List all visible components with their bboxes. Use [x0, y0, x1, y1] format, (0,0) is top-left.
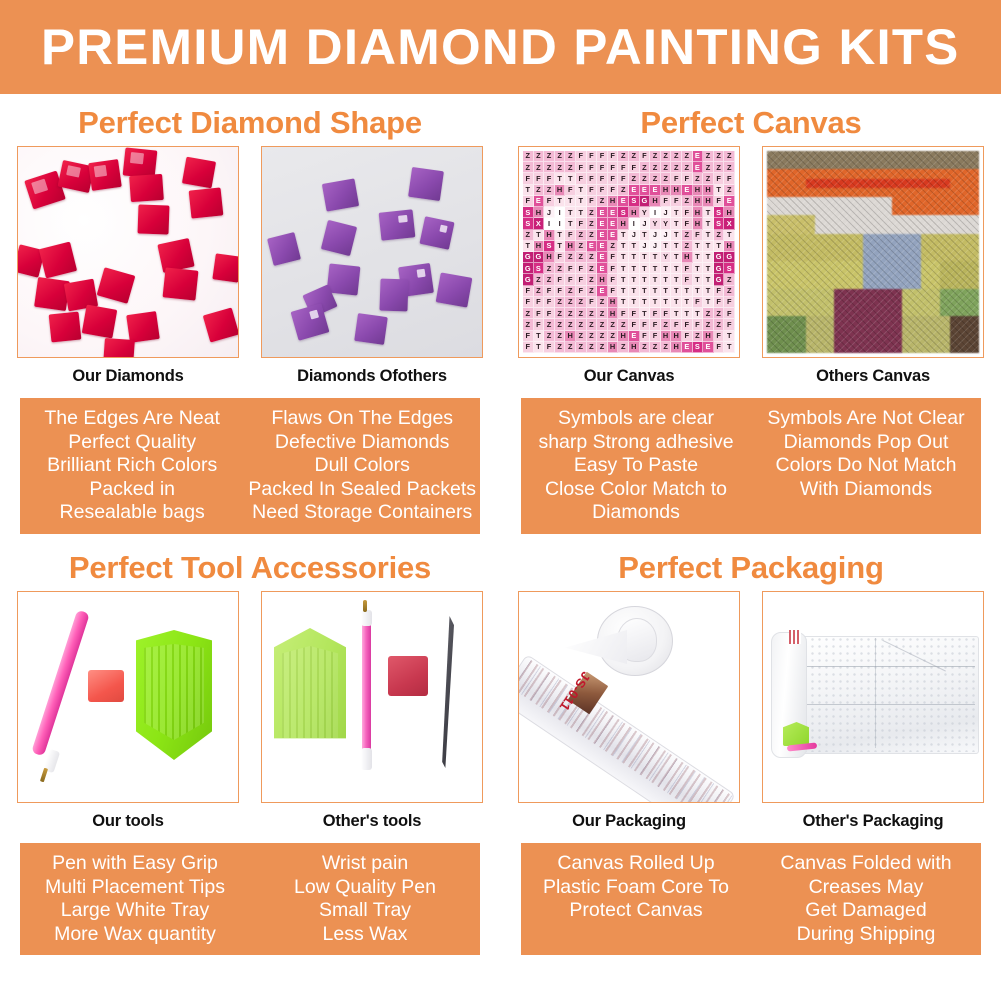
wax-square-icon — [88, 670, 124, 702]
blurry-canvas-cell — [854, 224, 864, 233]
canvas-symbol-cell: Z — [714, 162, 725, 173]
canvas-symbol-cell: Z — [565, 252, 576, 263]
canvas-symbol-cell: E — [608, 207, 619, 218]
blurry-canvas-cell — [883, 325, 893, 334]
section-title-tools: Perfect Tool Accessories — [0, 545, 500, 591]
canvas-symbol-cell: Z — [703, 151, 714, 162]
canvas-symbol-cell: T — [555, 173, 566, 184]
blurry-canvas-cell — [863, 169, 873, 178]
canvas-symbol-cell: F — [555, 252, 566, 263]
canvas-symbol-cell: F — [629, 308, 640, 319]
canvas-symbol-cell: T — [693, 241, 704, 252]
blurry-canvas-cell — [921, 234, 931, 243]
blurry-canvas-cell — [834, 270, 844, 279]
blurb-line: Packed In Sealed Packets — [248, 478, 476, 502]
blurry-canvas-cell — [854, 270, 864, 279]
blurry-canvas-cell — [825, 252, 835, 261]
blurry-canvas-cell — [815, 224, 825, 233]
blurry-canvas-cell — [796, 243, 806, 252]
blurry-canvas-cell — [960, 197, 970, 206]
blurry-canvas-cell — [931, 316, 941, 325]
blurry-canvas-cell — [815, 325, 825, 334]
blurry-canvas-cell — [902, 298, 912, 307]
blurry-canvas-cell — [960, 160, 970, 169]
canvas-symbol-cell: Z — [544, 185, 555, 196]
blurry-canvas-cell — [863, 206, 873, 215]
bubble-wrap-texture — [781, 636, 977, 752]
photo-pair-canvas: ZZZZZFFFFZZFZZZZEZZZZZZZZFFFFFFZZZZZEZZZ… — [501, 146, 1001, 393]
canvas-symbol-cell: G — [523, 274, 534, 285]
blurry-canvas-cell — [806, 289, 816, 298]
blurry-canvas-cell — [863, 215, 873, 224]
canvas-symbol-cell: T — [523, 185, 534, 196]
blurry-canvas-cell — [777, 197, 787, 206]
blurry-canvas-cell — [950, 316, 960, 325]
photo-others-canvas — [762, 146, 984, 358]
blurry-canvas-cell — [960, 234, 970, 243]
blurry-canvas-cell — [950, 335, 960, 344]
blurry-canvas-cell — [834, 280, 844, 289]
canvas-symbol-cell: T — [671, 252, 682, 263]
canvas-symbol-cell: T — [671, 263, 682, 274]
canvas-symbol-cell: T — [640, 230, 651, 241]
blurry-canvas-cell — [796, 179, 806, 188]
canvas-symbol-cell: H — [693, 185, 704, 196]
canvas-symbol-cell: T — [565, 207, 576, 218]
blurry-canvas-cell — [844, 307, 854, 316]
blurb-line: Less Wax — [254, 923, 476, 947]
blurry-canvas-cell — [950, 188, 960, 197]
blurry-canvas-cell — [921, 307, 931, 316]
canvas-symbol-cell: Z — [565, 162, 576, 173]
blurb-line: Brilliant Rich Colors — [24, 454, 240, 478]
blurry-canvas-cell — [969, 188, 979, 197]
blurry-canvas-cell — [863, 243, 873, 252]
blurry-canvas-cell — [767, 335, 777, 344]
canvas-symbol-cell: Z — [576, 319, 587, 330]
blurb-line: Flaws On The Edges — [248, 407, 476, 431]
photo-pair-packaging: JS-011 Our Packaging — [501, 591, 1001, 838]
blurry-canvas-cell — [854, 316, 864, 325]
blurry-canvas-cell — [902, 270, 912, 279]
blurry-canvas-cell — [767, 316, 777, 325]
canvas-symbol-cell: E — [608, 218, 619, 229]
blurb-line: Symbols Are Not Clear — [755, 407, 977, 431]
blurry-canvas-cell — [863, 270, 873, 279]
canvas-symbol-cell: T — [640, 252, 651, 263]
cell-others-diamonds: Diamonds Ofothers — [261, 146, 483, 393]
blurry-canvas-cell — [931, 344, 941, 353]
blurry-canvas-cell — [883, 179, 893, 188]
canvas-symbol-cell: Z — [587, 331, 598, 342]
blurry-canvas-cell — [931, 289, 941, 298]
canvas-symbol-cell: F — [523, 331, 534, 342]
canvas-symbol-cell: F — [587, 297, 598, 308]
blurry-canvas-cell — [960, 270, 970, 279]
blurry-canvas-cell — [960, 298, 970, 307]
canvas-symbol-cell: Y — [661, 252, 672, 263]
canvas-symbol-cell: T — [693, 252, 704, 263]
blurry-canvas-cell — [777, 215, 787, 224]
blurry-canvas-cell — [969, 252, 979, 261]
blurry-canvas-cell — [921, 316, 931, 325]
blurb-line: Diamonds Pop Out — [755, 431, 977, 455]
blurry-canvas-cell — [796, 270, 806, 279]
blurry-canvas-cell — [834, 160, 844, 169]
blurry-canvas-cell — [834, 307, 844, 316]
blurry-canvas-cell — [777, 206, 787, 215]
blurry-canvas-cell — [854, 344, 864, 353]
crease-line — [875, 638, 876, 748]
canvas-symbol-cell: G — [724, 252, 735, 263]
blurry-canvas-cell — [806, 197, 816, 206]
blurry-canvas-cell — [854, 298, 864, 307]
canvas-symbol-cell: Z — [724, 151, 735, 162]
blurry-canvas-cell — [921, 325, 931, 334]
canvas-symbol-cell: Z — [565, 286, 576, 297]
blurry-canvas-cell — [892, 316, 902, 325]
canvas-symbol-cell: S — [523, 207, 534, 218]
canvas-symbol-cell: F — [629, 319, 640, 330]
blurry-canvas-cell — [940, 151, 950, 160]
blurry-canvas-cell — [777, 316, 787, 325]
blurry-canvas-cell — [931, 307, 941, 316]
canvas-symbol-cell: F — [587, 185, 598, 196]
blurry-canvas-cell — [940, 252, 950, 261]
blurry-canvas-cell — [902, 179, 912, 188]
blurry-canvas-cell — [931, 280, 941, 289]
blurb-line: Easy To Paste — [525, 454, 747, 478]
others-tools-art — [262, 592, 482, 802]
canvas-symbol-cell: F — [671, 196, 682, 207]
blurry-canvas-cell — [777, 151, 787, 160]
blurry-canvas-cell — [873, 252, 883, 261]
canvas-symbol-cell: Z — [587, 286, 598, 297]
canvas-symbol-cell: Z — [618, 151, 629, 162]
canvas-symbol-cell: Z — [640, 173, 651, 184]
canvas-symbol-cell: F — [576, 162, 587, 173]
canvas-symbol-cell: Z — [565, 297, 576, 308]
tube-endcap-flap-icon — [565, 630, 627, 664]
blurry-canvas-cell — [960, 252, 970, 261]
blurry-canvas-cell — [844, 316, 854, 325]
photo-others-tools — [261, 591, 483, 803]
canvas-symbol-cell: Z — [565, 308, 576, 319]
blurry-canvas-cell — [815, 243, 825, 252]
blurry-canvas-cell — [767, 261, 777, 270]
canvas-symbol-cell: F — [682, 331, 693, 342]
blurry-canvas-cell — [854, 325, 864, 334]
blurry-canvas-cell — [960, 224, 970, 233]
blurry-canvas-cell — [825, 215, 835, 224]
canvas-symbol-cell: F — [650, 331, 661, 342]
blurry-canvas-cell — [873, 261, 883, 270]
blurry-canvas-cell — [844, 325, 854, 334]
canvas-symbol-cell: T — [661, 274, 672, 285]
blurry-canvas-cell — [777, 344, 787, 353]
blurry-canvas-cell — [969, 298, 979, 307]
canvas-symbol-cell: T — [576, 207, 587, 218]
blurry-canvas-cell — [844, 280, 854, 289]
blurry-canvas-cell — [912, 270, 922, 279]
blurry-canvas-cell — [786, 270, 796, 279]
canvas-symbol-cell: F — [714, 331, 725, 342]
blurry-canvas-cell — [873, 224, 883, 233]
blurry-canvas-cell — [969, 335, 979, 344]
blurry-canvas-cell — [854, 215, 864, 224]
canvas-symbol-cell: F — [640, 151, 651, 162]
blurry-canvas-cell — [796, 188, 806, 197]
canvas-symbol-cell: Z — [703, 162, 714, 173]
purple-diamonds-art — [262, 147, 482, 357]
canvas-symbol-cell: E — [597, 207, 608, 218]
blurry-canvas-cell — [883, 151, 893, 160]
canvas-symbol-cell: Z — [597, 308, 608, 319]
canvas-symbol-cell: E — [597, 252, 608, 263]
canvas-symbol-cell: E — [534, 196, 545, 207]
cell-our-tools: Our tools — [17, 591, 239, 838]
blurry-canvas-cell — [873, 160, 883, 169]
canvas-symbol-cell: J — [629, 230, 640, 241]
canvas-symbol-cell: Z — [544, 319, 555, 330]
blurry-canvas-cell — [931, 151, 941, 160]
canvas-symbol-cell: T — [714, 185, 725, 196]
blurry-canvas-cell — [796, 261, 806, 270]
canvas-symbol-cell: F — [608, 274, 619, 285]
cell-others-packaging: Other's Packaging — [762, 591, 984, 838]
canvas-symbol-cell: F — [523, 173, 534, 184]
canvas-symbol-cell: H — [544, 252, 555, 263]
canvas-symbol-cell: T — [661, 286, 672, 297]
blurry-canvas-cell — [892, 160, 902, 169]
blurry-canvas-cell — [767, 252, 777, 261]
blurry-canvas-cell — [796, 169, 806, 178]
canvas-symbol-cell: F — [587, 162, 598, 173]
canvas-symbol-cell: F — [693, 230, 704, 241]
canvas-symbol-cell: Z — [618, 185, 629, 196]
blurry-canvas-cell — [767, 307, 777, 316]
blurry-canvas-cell — [777, 179, 787, 188]
canvas-symbol-cell: F — [682, 207, 693, 218]
blurry-canvas-cell — [940, 316, 950, 325]
photo-our-canvas: ZZZZZFFFFZZFZZZZEZZZZZZZZFFFFFFZZZZZEZZZ… — [518, 146, 740, 358]
canvas-symbol-cell: Z — [565, 342, 576, 353]
canvas-symbol-cell: T — [671, 286, 682, 297]
blurry-canvas-cell — [786, 234, 796, 243]
canvas-symbol-cell: E — [640, 185, 651, 196]
canvas-symbol-cell: H — [671, 331, 682, 342]
canvas-symbol-cell: J — [650, 241, 661, 252]
blurry-canvas-cell — [950, 197, 960, 206]
blurb-ours-canvas: Symbols are clearsharp Strong adhesiveEa… — [521, 407, 751, 525]
blurry-canvas-cell — [883, 261, 893, 270]
blurry-canvas-cell — [786, 335, 796, 344]
blurry-canvas-cell — [931, 252, 941, 261]
canvas-symbol-cell: X — [534, 218, 545, 229]
canvas-symbol-cell: F — [544, 173, 555, 184]
blurry-canvas-cell — [815, 234, 825, 243]
cell-others-canvas: Others Canvas — [762, 146, 984, 393]
canvas-symbol-cell: Z — [703, 173, 714, 184]
blurry-canvas-cell — [834, 188, 844, 197]
blurry-canvas-cell — [825, 307, 835, 316]
photo-pair-tools: Our tools — [0, 591, 500, 838]
blurb-line: Small Tray — [254, 899, 476, 923]
cell-our-packaging: JS-011 Our Packaging — [518, 591, 740, 838]
blurb-line: Resealable bags — [24, 501, 240, 525]
canvas-symbol-cell: F — [608, 162, 619, 173]
canvas-symbol-cell: Z — [555, 342, 566, 353]
blurry-canvas-cell — [767, 289, 777, 298]
canvas-symbol-cell: F — [544, 297, 555, 308]
our-packaging-art: JS-011 — [519, 592, 739, 802]
blurry-canvas-cell — [777, 325, 787, 334]
canvas-symbol-cell: H — [608, 297, 619, 308]
canvas-symbol-cell: F — [555, 286, 566, 297]
blurb-line: Dull Colors — [248, 454, 476, 478]
canvas-symbol-cell: T — [661, 241, 672, 252]
canvas-symbol-cell: E — [629, 331, 640, 342]
blurry-canvas-cell — [806, 280, 816, 289]
blurry-canvas-cell — [796, 307, 806, 316]
blurry-canvas-cell — [950, 234, 960, 243]
blurry-canvas-cell — [892, 197, 902, 206]
canvas-symbol-cell: T — [555, 241, 566, 252]
blurry-canvas-cell — [921, 215, 931, 224]
blurry-canvas-cell — [950, 243, 960, 252]
canvas-symbol-cell: E — [682, 185, 693, 196]
blurry-canvas-cell — [902, 325, 912, 334]
blurry-canvas-cell — [940, 169, 950, 178]
canvas-symbol-cell: F — [618, 162, 629, 173]
canvas-symbol-cell: T — [671, 274, 682, 285]
canvas-symbol-cell: Z — [661, 342, 672, 353]
blurry-canvas-cell — [950, 160, 960, 169]
blurry-canvas-cell — [806, 206, 816, 215]
canvas-symbol-cell: Z — [597, 319, 608, 330]
blurry-canvas-cell — [883, 188, 893, 197]
blurry-canvas-cell — [902, 197, 912, 206]
blurry-canvas-cell — [873, 151, 883, 160]
canvas-symbol-cell: F — [671, 319, 682, 330]
blurry-canvas-cell — [883, 206, 893, 215]
canvas-symbol-cell: G — [523, 252, 534, 263]
blurry-canvas-cell — [921, 289, 931, 298]
canvas-symbol-cell: Z — [555, 331, 566, 342]
blurry-canvas-cell — [969, 261, 979, 270]
canvas-symbol-cell: F — [650, 319, 661, 330]
canvas-symbol-cell: T — [693, 263, 704, 274]
blurry-canvas-cell — [825, 316, 835, 325]
blurry-canvas-cell — [815, 298, 825, 307]
canvas-symbol-cell: T — [661, 297, 672, 308]
blurry-canvas-cell — [806, 344, 816, 353]
canvas-symbol-cell: F — [682, 274, 693, 285]
canvas-symbol-cell: I — [544, 218, 555, 229]
canvas-symbol-cell: E — [597, 230, 608, 241]
caption-our-tools: Our tools — [17, 803, 239, 838]
blurry-canvas-cell — [912, 197, 922, 206]
canvas-symbol-cell: H — [618, 331, 629, 342]
canvas-symbol-cell: Z — [671, 151, 682, 162]
blurry-canvas-cell — [931, 298, 941, 307]
blurry-canvas-cell — [892, 234, 902, 243]
canvas-symbol-cell: Z — [555, 297, 566, 308]
blurry-canvas-cell — [863, 344, 873, 353]
blurry-canvas-cell — [921, 179, 931, 188]
blurry-canvas-cell — [844, 270, 854, 279]
canvas-symbol-cell: F — [608, 263, 619, 274]
canvas-symbol-cell: T — [682, 308, 693, 319]
canvas-symbol-cell: H — [650, 196, 661, 207]
canvas-symbol-cell: T — [671, 230, 682, 241]
canvas-symbol-cell: E — [650, 185, 661, 196]
blurry-canvas-cell — [786, 151, 796, 160]
blurry-canvas-cell — [767, 197, 777, 206]
blurry-canvas-cell — [767, 151, 777, 160]
canvas-symbol-cell: Z — [618, 319, 629, 330]
canvas-symbol-cell: Z — [608, 331, 619, 342]
canvas-symbol-cell: F — [587, 196, 598, 207]
blurry-canvas-cell — [815, 316, 825, 325]
canvas-symbol-cell: Z — [565, 319, 576, 330]
blurry-canvas-cell — [950, 169, 960, 178]
canvas-symbol-cell: H — [565, 241, 576, 252]
blurry-canvas-cell — [883, 243, 893, 252]
canvas-symbol-cell: Z — [555, 308, 566, 319]
canvas-symbol-cell: F — [693, 297, 704, 308]
canvas-symbol-cell: Z — [693, 173, 704, 184]
blurry-canvas-cell — [825, 325, 835, 334]
blurry-canvas-cell — [767, 188, 777, 197]
canvas-symbol-cell: J — [544, 207, 555, 218]
blurry-canvas-cell — [767, 280, 777, 289]
blurb-line: Low Quality Pen — [254, 876, 476, 900]
blurry-canvas-cell — [873, 316, 883, 325]
canvas-symbol-cell: S — [714, 207, 725, 218]
blurry-canvas-cell — [834, 151, 844, 160]
blurry-canvas-cell — [815, 261, 825, 270]
canvas-symbol-cell: Z — [534, 151, 545, 162]
blurry-canvas-cell — [902, 307, 912, 316]
canvas-symbol-cell: Z — [661, 151, 672, 162]
canvas-symbol-cell: T — [618, 230, 629, 241]
canvas-symbol-cell: H — [555, 185, 566, 196]
blurry-canvas-cell — [892, 307, 902, 316]
blurry-canvas-cell — [950, 307, 960, 316]
blurry-canvas-cell — [960, 169, 970, 178]
canvas-symbol-cell: Z — [724, 162, 735, 173]
canvas-symbol-cell: G — [640, 196, 651, 207]
canvas-symbol-cell: Z — [555, 162, 566, 173]
blurry-canvas-cell — [873, 344, 883, 353]
blurry-canvas-cell — [912, 307, 922, 316]
blurry-canvas-cell — [873, 280, 883, 289]
blurry-canvas-cell — [931, 234, 941, 243]
canvas-symbol-cell: T — [640, 308, 651, 319]
blurry-canvas-cell — [892, 270, 902, 279]
blurry-canvas-cell — [825, 280, 835, 289]
blurry-canvas-cell — [834, 169, 844, 178]
canvas-symbol-cell: Z — [703, 308, 714, 319]
blurry-canvas-cell — [796, 335, 806, 344]
blurry-canvas-cell — [825, 188, 835, 197]
blurry-canvas-cell — [863, 179, 873, 188]
canvas-symbol-cell: F — [618, 173, 629, 184]
blurb-line: Close Color Match to — [525, 478, 747, 502]
canvas-symbol-cell: Z — [693, 331, 704, 342]
blurry-canvas-cell — [931, 188, 941, 197]
